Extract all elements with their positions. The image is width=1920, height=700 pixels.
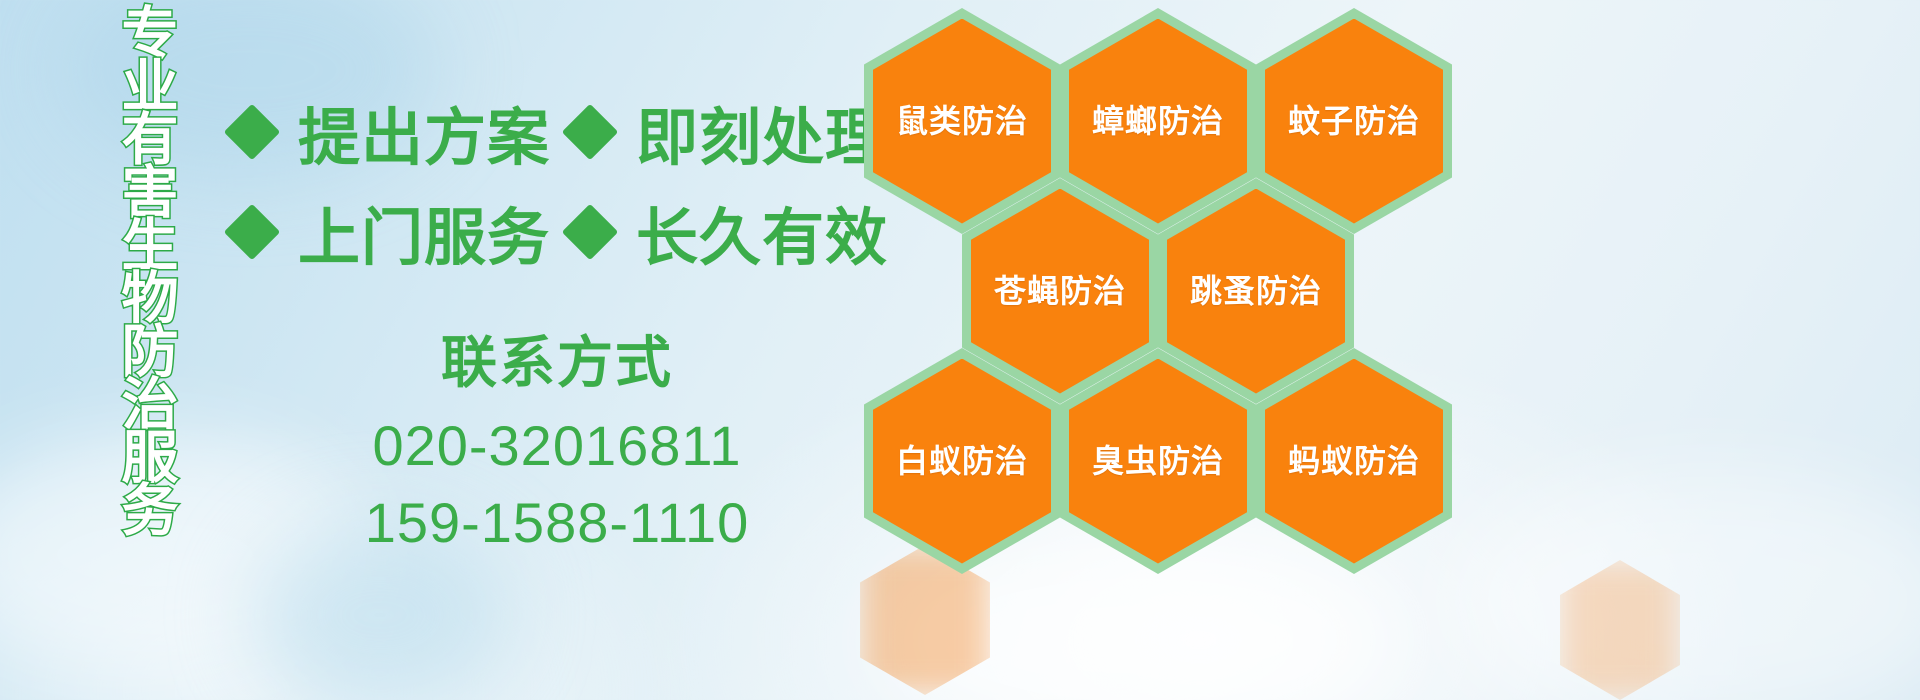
- background-hexagon-ghost: [1560, 560, 1680, 700]
- vertical-headline-char: 治: [122, 379, 179, 432]
- background-blob: [1450, 470, 1920, 700]
- service-label: 蟑螂防治: [1092, 105, 1224, 137]
- feature-label: 提出方案: [298, 87, 550, 177]
- feature-item: 上门服务: [232, 187, 570, 277]
- service-hexagon-inner: 苍蝇防治: [971, 189, 1149, 394]
- feature-row: 上门服务 长久有效: [232, 182, 862, 282]
- contact-phone-mobile[interactable]: 159-1588-1110: [232, 490, 882, 555]
- vertical-headline-char: 务: [122, 485, 179, 538]
- service-hexagon-inner: 蚂蚁防治: [1265, 359, 1443, 564]
- diamond-icon: [562, 104, 619, 161]
- feature-row: 提出方案 即刻处理: [232, 82, 862, 182]
- service-hexagon-inner: 鼠类防治: [873, 19, 1051, 224]
- service-hexagon-inner: 臭虫防治: [1069, 359, 1247, 564]
- feature-item: 提出方案: [232, 87, 570, 177]
- vertical-headline-char: 业: [122, 61, 179, 114]
- vertical-headline-char: 有: [122, 114, 179, 167]
- service-hexagon-inner: 蟑螂防治: [1069, 19, 1247, 224]
- feature-item: 长久有效: [570, 187, 908, 277]
- contact-title: 联系方式: [232, 318, 882, 399]
- service-hexagon-inner: 白蚁防治: [873, 359, 1051, 564]
- service-label: 蚊子防治: [1288, 105, 1420, 137]
- vertical-headline-char: 专: [122, 8, 179, 61]
- vertical-headline-char: 防: [122, 326, 179, 379]
- feature-item: 即刻处理: [570, 87, 908, 177]
- diamond-icon: [562, 204, 619, 261]
- vertical-headline-char: 害: [122, 167, 179, 220]
- service-hexagon-inner: 蚊子防治: [1265, 19, 1443, 224]
- diamond-icon: [224, 104, 281, 161]
- vertical-headline: 专 业 有 害 生 物 防 治 服 务: [110, 8, 190, 538]
- feature-list: 提出方案 即刻处理 上门服务 长久有效: [232, 82, 862, 282]
- vertical-headline-char: 物: [122, 273, 179, 326]
- service-honeycomb: 鼠类防治 蟑螂防治 蚊子防治 苍蝇防治 跳蚤防治 白蚁防治 臭虫防治 蚂蚁防治: [862, 0, 1442, 560]
- service-hexagon-inner: 跳蚤防治: [1167, 189, 1345, 394]
- feature-label: 上门服务: [298, 187, 550, 277]
- contact-phone-landline[interactable]: 020-32016811: [232, 413, 882, 478]
- diamond-icon: [224, 204, 281, 261]
- service-label: 跳蚤防治: [1190, 275, 1322, 307]
- service-label: 臭虫防治: [1092, 445, 1224, 477]
- feature-label: 长久有效: [636, 187, 888, 277]
- feature-label: 即刻处理: [636, 87, 888, 177]
- service-label: 苍蝇防治: [994, 275, 1126, 307]
- service-label: 蚂蚁防治: [1288, 445, 1420, 477]
- contact-block: 联系方式 020-32016811 159-1588-1110: [232, 318, 882, 555]
- vertical-headline-char: 生: [122, 220, 179, 273]
- vertical-headline-char: 服: [122, 432, 179, 485]
- service-label: 鼠类防治: [896, 105, 1028, 137]
- service-label: 白蚁防治: [896, 445, 1028, 477]
